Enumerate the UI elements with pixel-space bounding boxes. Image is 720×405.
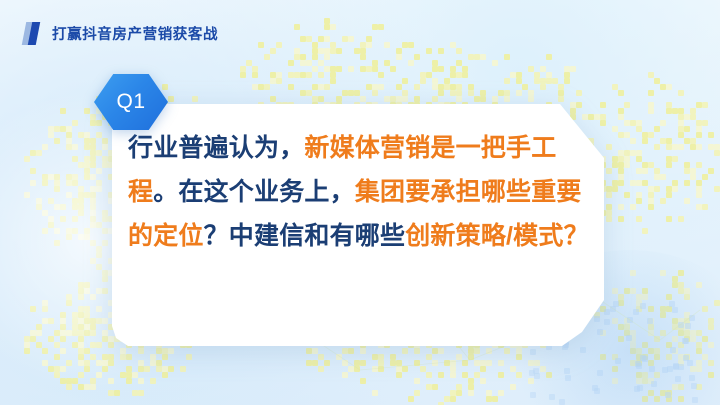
page-title: 打赢抖音房产营销获客战 [52, 23, 218, 44]
question-segment: 。在这个业务上， [153, 178, 355, 206]
question-number-label: Q1 [94, 74, 168, 130]
question-segment: ？中建信和有哪些 [204, 222, 406, 250]
question-segment: 行业普遍认为， [128, 134, 304, 162]
slide-header: 打赢抖音房产营销获客战 [24, 22, 218, 45]
question-segment: 创新策略/模式？ [405, 222, 589, 250]
slanted-bar-marker-icon [24, 22, 40, 45]
question-text: 行业普遍认为，新媒体营销是一把手工程。在这个业务上，集团要承担哪些重要的定位？中… [128, 126, 598, 258]
question-number-badge: Q1 [94, 74, 168, 130]
slide-canvas: 打赢抖音房产营销获客战 Q1 行业普遍认为，新媒体营销是一把手工程。在这个业务上… [0, 0, 720, 405]
